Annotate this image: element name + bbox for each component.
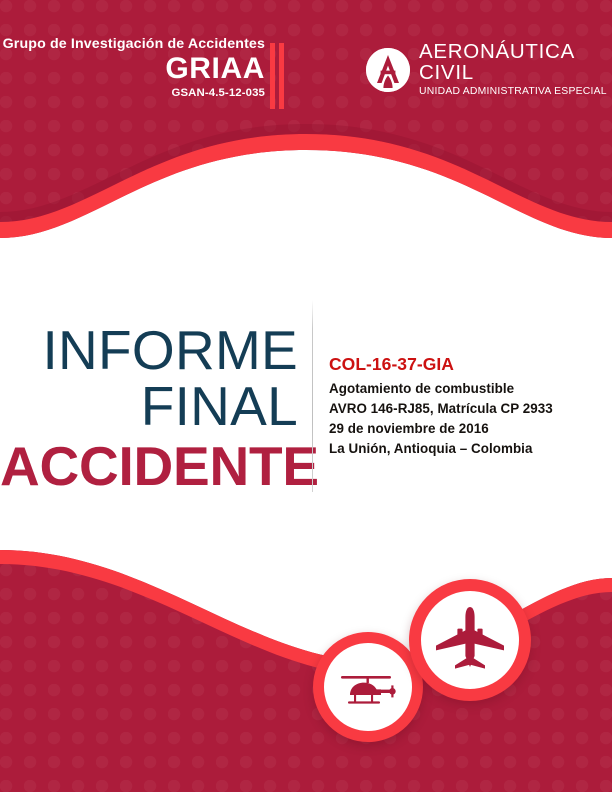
griaa-acronym: GRIAA xyxy=(0,53,265,85)
detail-date: 29 de noviembre de 2016 xyxy=(329,419,597,439)
griaa-header: Grupo de Investigación de Accidentes GRI… xyxy=(0,36,265,99)
logo-subtitle: UNIDAD ADMINISTRATIVA ESPECIAL xyxy=(419,87,612,97)
double-bar-mark-icon xyxy=(270,43,286,109)
helicopter-badge xyxy=(313,632,423,742)
airplane-badge xyxy=(409,579,531,701)
logo-title: AERONÁUTICA CIVIL xyxy=(419,42,612,83)
case-code: COL-16-37-GIA xyxy=(329,354,597,374)
detail-cause: Agotamiento de combustible xyxy=(329,379,597,399)
title-line-2: FINAL xyxy=(0,378,298,434)
page-title: INFORME FINAL ACCIDENTE xyxy=(0,322,298,496)
detail-location: La Unión, Antioquia – Colombia xyxy=(329,439,597,459)
griaa-form-code: GSAN-4.5-12-035 xyxy=(0,87,265,99)
title-line-1: INFORME xyxy=(0,322,298,378)
report-cover-page: Grupo de Investigación de Accidentes GRI… xyxy=(0,0,612,792)
aerocivil-logo: AERONÁUTICA CIVIL UNIDAD ADMINISTRATIVA … xyxy=(366,42,612,97)
case-details: COL-16-37-GIA Agotamiento de combustible… xyxy=(329,354,597,458)
airplane-icon xyxy=(434,604,506,676)
title-accent-word: ACCIDENTE xyxy=(0,438,298,496)
group-name: Grupo de Investigación de Accidentes xyxy=(0,36,265,52)
aerocivil-a-roundel-icon xyxy=(366,48,410,92)
detail-aircraft: AVRO 146-RJ85, Matrícula CP 2933 xyxy=(329,399,597,419)
helicopter-icon xyxy=(337,656,399,718)
